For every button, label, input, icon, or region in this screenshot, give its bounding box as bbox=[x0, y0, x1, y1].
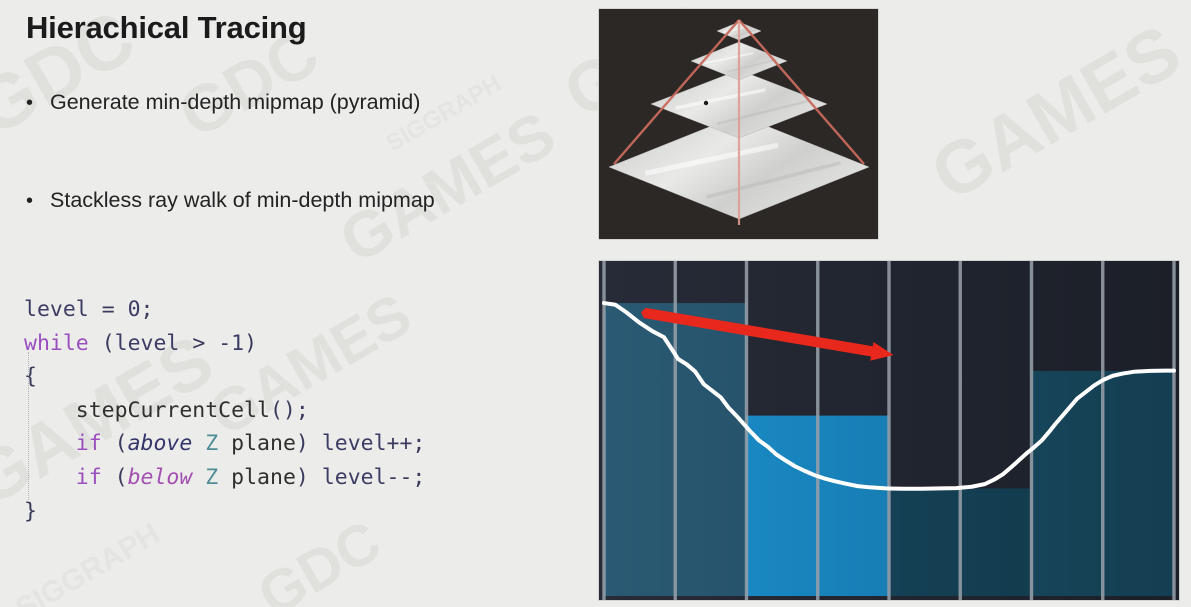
code-token: ( bbox=[115, 465, 128, 490]
code-token: > bbox=[192, 331, 205, 356]
surface-marker-dot bbox=[704, 101, 708, 105]
code-line: level = 0; bbox=[24, 293, 425, 327]
watermark-text: GAMES bbox=[917, 8, 1191, 217]
watermark-text: SIGGRAPH bbox=[10, 517, 166, 607]
bullet-item-1: • Generate min-depth mipmap (pyramid) bbox=[26, 90, 420, 115]
slide-root: GDC GDC GAMES GAMES GDC GAMES GAMES GDC … bbox=[0, 0, 1191, 607]
code-indent-guide bbox=[28, 352, 29, 504]
bullet-label: Generate min-depth mipmap (pyramid) bbox=[50, 90, 420, 115]
code-token: ( bbox=[102, 331, 115, 356]
code-token: level bbox=[322, 431, 387, 456]
code-token: above bbox=[128, 431, 193, 456]
code-token: level bbox=[24, 297, 89, 322]
code-token bbox=[24, 398, 76, 423]
bullet-dot-icon: • bbox=[26, 191, 50, 211]
code-token: while bbox=[24, 331, 89, 356]
code-token bbox=[309, 431, 322, 456]
code-token bbox=[102, 431, 115, 456]
min-depth-mipmap-chart bbox=[599, 261, 1179, 600]
code-token bbox=[309, 465, 322, 490]
code-token: Z bbox=[205, 465, 218, 490]
code-token: ; bbox=[141, 297, 154, 322]
code-token: level bbox=[322, 465, 387, 490]
code-block: level = 0;while (level > -1){ stepCurren… bbox=[24, 293, 425, 528]
code-token bbox=[205, 331, 218, 356]
code-line: stepCurrentCell(); bbox=[24, 394, 425, 428]
mipmap-pyramid-figure bbox=[599, 9, 878, 239]
code-token: Z bbox=[205, 431, 218, 456]
code-line: { bbox=[24, 360, 425, 394]
code-token: = bbox=[102, 297, 115, 322]
code-token bbox=[192, 465, 205, 490]
code-token bbox=[218, 465, 231, 490]
code-token: if bbox=[76, 465, 102, 490]
code-token: -1 bbox=[218, 331, 244, 356]
code-token: plane bbox=[231, 431, 296, 456]
watermark-text: GAMES bbox=[327, 96, 567, 277]
code-line: } bbox=[24, 495, 425, 529]
code-token bbox=[24, 431, 76, 456]
code-token: plane bbox=[231, 465, 296, 490]
code-token bbox=[24, 465, 76, 490]
code-token: below bbox=[128, 465, 193, 490]
code-token: ( bbox=[115, 431, 128, 456]
code-token bbox=[89, 297, 102, 322]
code-line: while (level > -1) bbox=[24, 327, 425, 361]
code-token: ) bbox=[296, 431, 309, 456]
code-token: ++; bbox=[387, 431, 426, 456]
code-token bbox=[115, 297, 128, 322]
code-token bbox=[218, 431, 231, 456]
bullet-item-2: • Stackless ray walk of min-depth mipmap bbox=[26, 188, 435, 213]
chart-svg bbox=[599, 261, 1179, 600]
code-token bbox=[89, 331, 102, 356]
bullet-dot-icon: • bbox=[26, 93, 50, 113]
code-token: 0 bbox=[128, 297, 141, 322]
code-token bbox=[179, 331, 192, 356]
code-token: } bbox=[24, 499, 37, 524]
pyramid-svg bbox=[599, 9, 878, 239]
code-token: (); bbox=[270, 398, 309, 423]
bullet-label: Stackless ray walk of min-depth mipmap bbox=[50, 188, 435, 213]
code-token: level bbox=[115, 331, 180, 356]
page-title: Hierachical Tracing bbox=[26, 10, 307, 46]
code-line: if (below Z plane) level--; bbox=[24, 461, 425, 495]
code-token: ) bbox=[244, 331, 257, 356]
code-token bbox=[192, 431, 205, 456]
code-token: --; bbox=[387, 465, 426, 490]
code-token: ) bbox=[296, 465, 309, 490]
code-token: stepCurrentCell bbox=[76, 398, 270, 423]
code-token: if bbox=[76, 431, 102, 456]
code-line: if (above Z plane) level++; bbox=[24, 427, 425, 461]
code-token bbox=[102, 465, 115, 490]
code-token: { bbox=[24, 364, 37, 389]
